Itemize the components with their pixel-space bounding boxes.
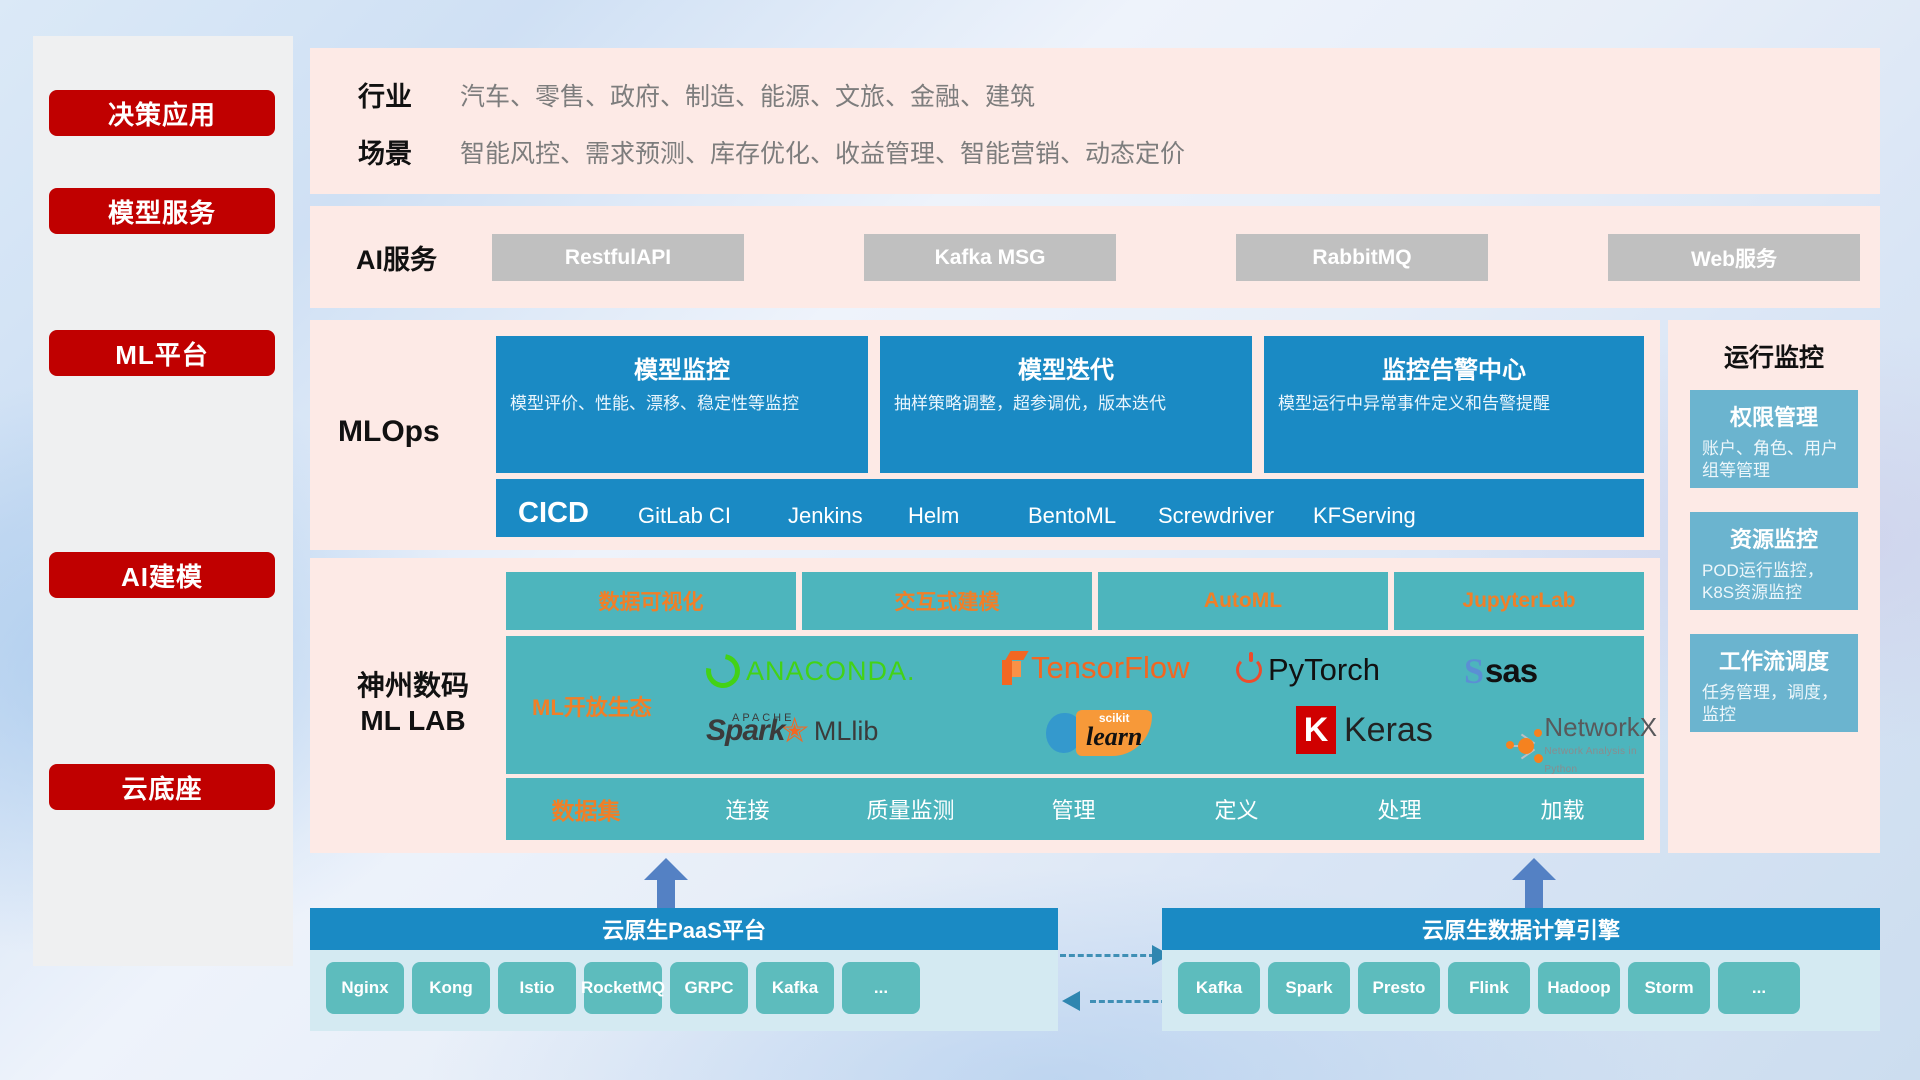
ai-service-panel: AI服务 RestfulAPI Kafka MSG RabbitMQ Web服务 [310, 206, 1880, 308]
keras-wordmark: Keras [1344, 711, 1433, 750]
ml-lab-label-line2: ML LAB [328, 703, 498, 738]
pytorch-flame-icon [1236, 657, 1262, 683]
mlops-card-model-monitoring[interactable]: 模型监控 模型评价、性能、漂移、稳定性等监控 [496, 336, 868, 473]
mlops-card-model-iteration[interactable]: 模型迭代 抽样策略调整，超参调优，版本迭代 [880, 336, 1252, 473]
monitor-card-workflow[interactable]: 工作流调度 任务管理，调度，监控 [1690, 634, 1858, 732]
ml-ecosystem-label: ML开放生态 [532, 690, 652, 722]
paas-platform-title: 云原生PaaS平台 [310, 908, 1058, 950]
mllib-wordmark: MLlib [814, 716, 879, 747]
arrow-left-head-icon [1062, 991, 1080, 1011]
card-desc: 抽样策略调整，超参调优，版本迭代 [894, 393, 1238, 415]
arrow-right-dashed-line [1060, 954, 1155, 957]
engine-chip-storm[interactable]: Storm [1628, 962, 1710, 1014]
card-title: 资源监控 [1702, 522, 1846, 554]
scenario-label: 场景 [358, 132, 412, 171]
layer-rail: 决策应用 模型服务 ML平台 AI建模 云底座 [33, 36, 293, 966]
anaconda-logo: ANACONDA. [706, 654, 916, 688]
paas-chip-grpc[interactable]: GRPC [670, 962, 748, 1014]
rail-chip-ai-modeling[interactable]: AI建模 [49, 552, 275, 598]
cicd-tool-gitlab-ci[interactable]: GitLab CI [638, 503, 788, 528]
keras-k-icon: K [1296, 706, 1336, 754]
monitor-card-resource[interactable]: 资源监控 POD运行监控，K8S资源监控 [1690, 512, 1858, 610]
ai-service-chip-rabbitmq[interactable]: RabbitMQ [1236, 234, 1488, 281]
mlops-panel: MLOps 模型监控 模型评价、性能、漂移、稳定性等监控 模型迭代 抽样策略调整… [310, 320, 1660, 550]
engine-chip-flink[interactable]: Flink [1448, 962, 1530, 1014]
ml-lab-label: 神州数码 ML LAB [328, 668, 498, 738]
engine-chip-spark[interactable]: Spark [1268, 962, 1350, 1014]
scikit-learn-logo: scikit learn [1046, 710, 1152, 756]
paas-chip-kong[interactable]: Kong [412, 962, 490, 1014]
ml-lab-panel: 神州数码 ML LAB 数据可视化 交互式建模 AutoML JupyterLa… [310, 558, 1660, 853]
card-title: 工作流调度 [1702, 644, 1846, 676]
tensorflow-mark-icon [998, 651, 1026, 685]
industry-panel: 行业 汽车、零售、政府、制造、能源、文旅、金融、建筑 场景 智能风控、需求预测、… [310, 48, 1880, 194]
ai-service-chip-web[interactable]: Web服务 [1608, 234, 1860, 281]
learn-wordmark: learn [1086, 724, 1142, 750]
networkx-tagline: Network Analysis in Python [1544, 746, 1636, 775]
cicd-tool-helm[interactable]: Helm [908, 503, 1028, 528]
sas-logo: S sas [1464, 650, 1537, 692]
ai-service-chip-restfulapi[interactable]: RestfulAPI [492, 234, 744, 281]
tensorflow-wordmark: TensorFlow [1031, 650, 1190, 686]
card-desc: 模型评价、性能、漂移、稳定性等监控 [510, 393, 854, 415]
paas-chip-rocketmq[interactable]: RocketMQ [584, 962, 662, 1014]
engine-chip-hadoop[interactable]: Hadoop [1538, 962, 1620, 1014]
cicd-tool-screwdriver[interactable]: Screwdriver [1158, 503, 1313, 528]
sas-swirl-icon: S [1464, 650, 1484, 692]
apache-label: APACHE [732, 712, 794, 724]
ml-ecosystem-area: ML开放生态 ANACONDA. TensorFlow PyTorch [506, 636, 1644, 774]
cicd-label: CICD [518, 497, 638, 530]
anaconda-ring-icon [699, 647, 746, 694]
lab-tool-interactive-modeling[interactable]: 交互式建模 [802, 572, 1092, 630]
scenario-value: 智能风控、需求预测、库存优化、收益管理、智能营销、动态定价 [460, 134, 1185, 170]
pytorch-wordmark: PyTorch [1268, 652, 1380, 688]
cicd-tool-jenkins[interactable]: Jenkins [788, 503, 908, 528]
engine-chip-presto[interactable]: Presto [1358, 962, 1440, 1014]
anaconda-wordmark: ANACONDA. [746, 656, 916, 687]
cicd-tool-bentoml[interactable]: BentoML [1028, 503, 1158, 528]
cicd-tool-kfserving[interactable]: KFServing [1313, 503, 1443, 528]
keras-logo: K Keras [1296, 706, 1433, 754]
dataset-item-load[interactable]: 加载 [1481, 793, 1644, 825]
tensorflow-logo: TensorFlow [998, 650, 1190, 686]
card-desc: POD运行监控，K8S资源监控 [1702, 560, 1846, 604]
card-title: 监控告警中心 [1278, 350, 1630, 385]
sas-wordmark: sas [1485, 652, 1537, 690]
dataset-item-quality[interactable]: 质量监测 [829, 793, 992, 825]
networkx-wordmark: NetworkX [1544, 712, 1657, 742]
rail-chip-model-service[interactable]: 模型服务 [49, 188, 275, 234]
mlops-card-alert-center[interactable]: 监控告警中心 模型运行中异常事件定义和告警提醒 [1264, 336, 1644, 473]
card-desc: 模型运行中异常事件定义和告警提醒 [1278, 393, 1630, 415]
ai-service-label: AI服务 [356, 238, 437, 277]
engine-chip-more[interactable]: ... [1718, 962, 1800, 1014]
data-engine-title: 云原生数据计算引擎 [1162, 908, 1880, 950]
rail-chip-ml-platform[interactable]: ML平台 [49, 330, 275, 376]
arrow-up-data-engine-icon [1512, 858, 1556, 910]
dataset-item-manage[interactable]: 管理 [992, 793, 1155, 825]
spark-mllib-logo: APACHE Spark ✭ MLlib [706, 714, 878, 748]
dataset-label: 数据集 [506, 792, 666, 826]
industry-label: 行业 [358, 75, 412, 114]
engine-chip-kafka[interactable]: Kafka [1178, 962, 1260, 1014]
scikit-wordmark-bg: scikit learn [1076, 710, 1152, 756]
dataset-item-process[interactable]: 处理 [1318, 793, 1481, 825]
dataset-item-define[interactable]: 定义 [1155, 793, 1318, 825]
monitoring-panel: 运行监控 权限管理 账户、角色、用户组等管理 资源监控 POD运行监控，K8S资… [1668, 320, 1880, 853]
lab-tool-automl[interactable]: AutoML [1098, 572, 1388, 630]
networkx-logo: NetworkX Network Analysis in Python [1506, 714, 1661, 777]
dataset-bar: 数据集 连接 质量监测 管理 定义 处理 加载 [506, 778, 1644, 840]
ai-service-chip-kafka-msg[interactable]: Kafka MSG [864, 234, 1116, 281]
card-title: 权限管理 [1702, 400, 1846, 432]
rail-chip-decision[interactable]: 决策应用 [49, 90, 275, 136]
card-title: 模型监控 [510, 350, 854, 385]
paas-platform-block: 云原生PaaS平台 Nginx Kong Istio RocketMQ GRPC… [310, 908, 1058, 1031]
cicd-bar: CICD GitLab CI Jenkins Helm BentoML Scre… [496, 479, 1644, 537]
lab-tool-data-visualization[interactable]: 数据可视化 [506, 572, 796, 630]
monitor-card-permission[interactable]: 权限管理 账户、角色、用户组等管理 [1690, 390, 1858, 488]
paas-chip-kafka[interactable]: Kafka [756, 962, 834, 1014]
arrow-up-paas-icon [644, 858, 688, 910]
dataset-item-connect[interactable]: 连接 [666, 793, 829, 825]
architecture-diagram: 决策应用 模型服务 ML平台 AI建模 云底座 行业 汽车、零售、政府、制造、能… [0, 0, 1920, 1080]
paas-chip-more[interactable]: ... [842, 962, 920, 1014]
card-desc: 任务管理，调度，监控 [1702, 682, 1846, 726]
ml-lab-label-line1: 神州数码 [328, 668, 498, 703]
rail-chip-cloud-base[interactable]: 云底座 [49, 764, 275, 810]
industry-value: 汽车、零售、政府、制造、能源、文旅、金融、建筑 [460, 77, 1035, 113]
paas-chip-istio[interactable]: Istio [498, 962, 576, 1014]
card-desc: 账户、角色、用户组等管理 [1702, 438, 1846, 482]
mlops-label: MLOps [338, 415, 440, 449]
monitoring-title: 运行监控 [1668, 338, 1880, 374]
card-title: 模型迭代 [894, 350, 1238, 385]
lab-tool-jupyterlab[interactable]: JupyterLab [1394, 572, 1644, 630]
data-engine-block: 云原生数据计算引擎 Kafka Spark Presto Flink Hadoo… [1162, 908, 1880, 1031]
paas-chip-nginx[interactable]: Nginx [326, 962, 404, 1014]
networkx-graph-icon [1506, 729, 1540, 763]
pytorch-logo: PyTorch [1236, 652, 1380, 688]
